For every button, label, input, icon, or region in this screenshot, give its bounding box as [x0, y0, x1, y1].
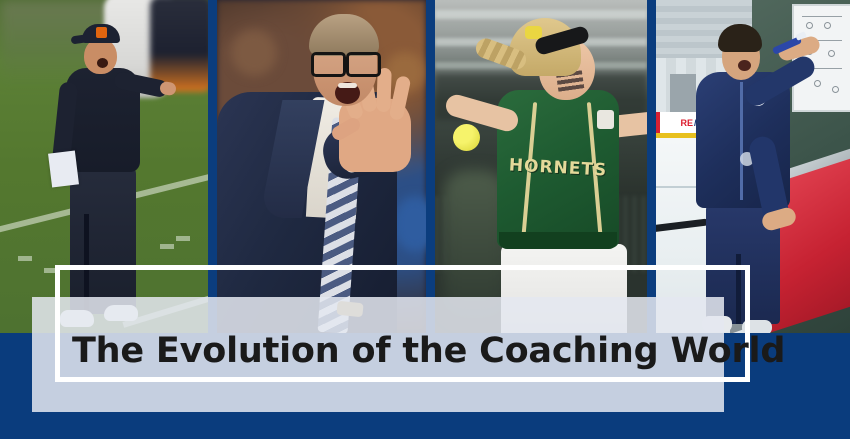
coach-head [84, 38, 117, 74]
coach-mouth [97, 58, 108, 68]
play-sheet [48, 150, 79, 187]
whiteboard-marker-dot [806, 22, 813, 29]
banner-title: The Evolution of the Coaching World [72, 331, 785, 371]
hash-mark [160, 244, 174, 249]
cap-logo [96, 27, 107, 38]
whiteboard-marker-dot [828, 50, 835, 57]
jacket-zipper [740, 82, 743, 200]
whiteboard-line [802, 16, 842, 17]
softball [453, 124, 480, 151]
hash-mark [176, 236, 190, 241]
whiteboard-marker-dot [824, 22, 831, 29]
jersey-hem [499, 232, 617, 249]
coach-hair [309, 14, 379, 56]
banner: HORNETS [0, 0, 850, 439]
coach-hair [718, 24, 762, 52]
jersey-sleeve-patch [597, 110, 614, 129]
coach-mouth [738, 60, 751, 71]
whiteboard-marker-dot [832, 86, 839, 93]
coach-shouting-mouth [335, 82, 360, 104]
eyeglasses-icon [311, 52, 381, 71]
hash-mark [18, 256, 32, 261]
whiteboard-marker-dot [814, 80, 821, 87]
